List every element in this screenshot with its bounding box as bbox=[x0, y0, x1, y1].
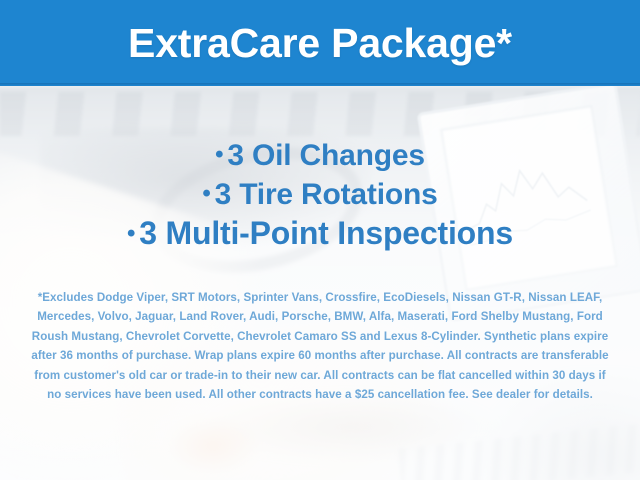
list-item: •3 Oil Changes bbox=[0, 136, 640, 175]
bullet-icon: • bbox=[215, 141, 223, 168]
benefit-label-oil-changes: 3 Oil Changes bbox=[227, 139, 424, 172]
list-item: •3 Tire Rotations bbox=[0, 175, 640, 214]
extracare-package-promo: ExtraCare Package* •3 Oil Changes •3 Tir… bbox=[0, 0, 640, 480]
page-title: ExtraCare Package* bbox=[128, 23, 512, 64]
disclaimer-text: *Excludes Dodge Viper, SRT Motors, Sprin… bbox=[26, 288, 614, 404]
benefit-label-tire-rotations: 3 Tire Rotations bbox=[215, 178, 438, 211]
bullet-icon: • bbox=[127, 220, 135, 247]
benefit-label-multi-point-inspections: 3 Multi-Point Inspections bbox=[139, 215, 513, 251]
header-banner: ExtraCare Package* bbox=[0, 0, 640, 86]
bullet-icon: • bbox=[202, 180, 210, 207]
list-item: •3 Multi-Point Inspections bbox=[0, 214, 640, 253]
benefits-list: •3 Oil Changes •3 Tire Rotations •3 Mult… bbox=[0, 136, 640, 253]
